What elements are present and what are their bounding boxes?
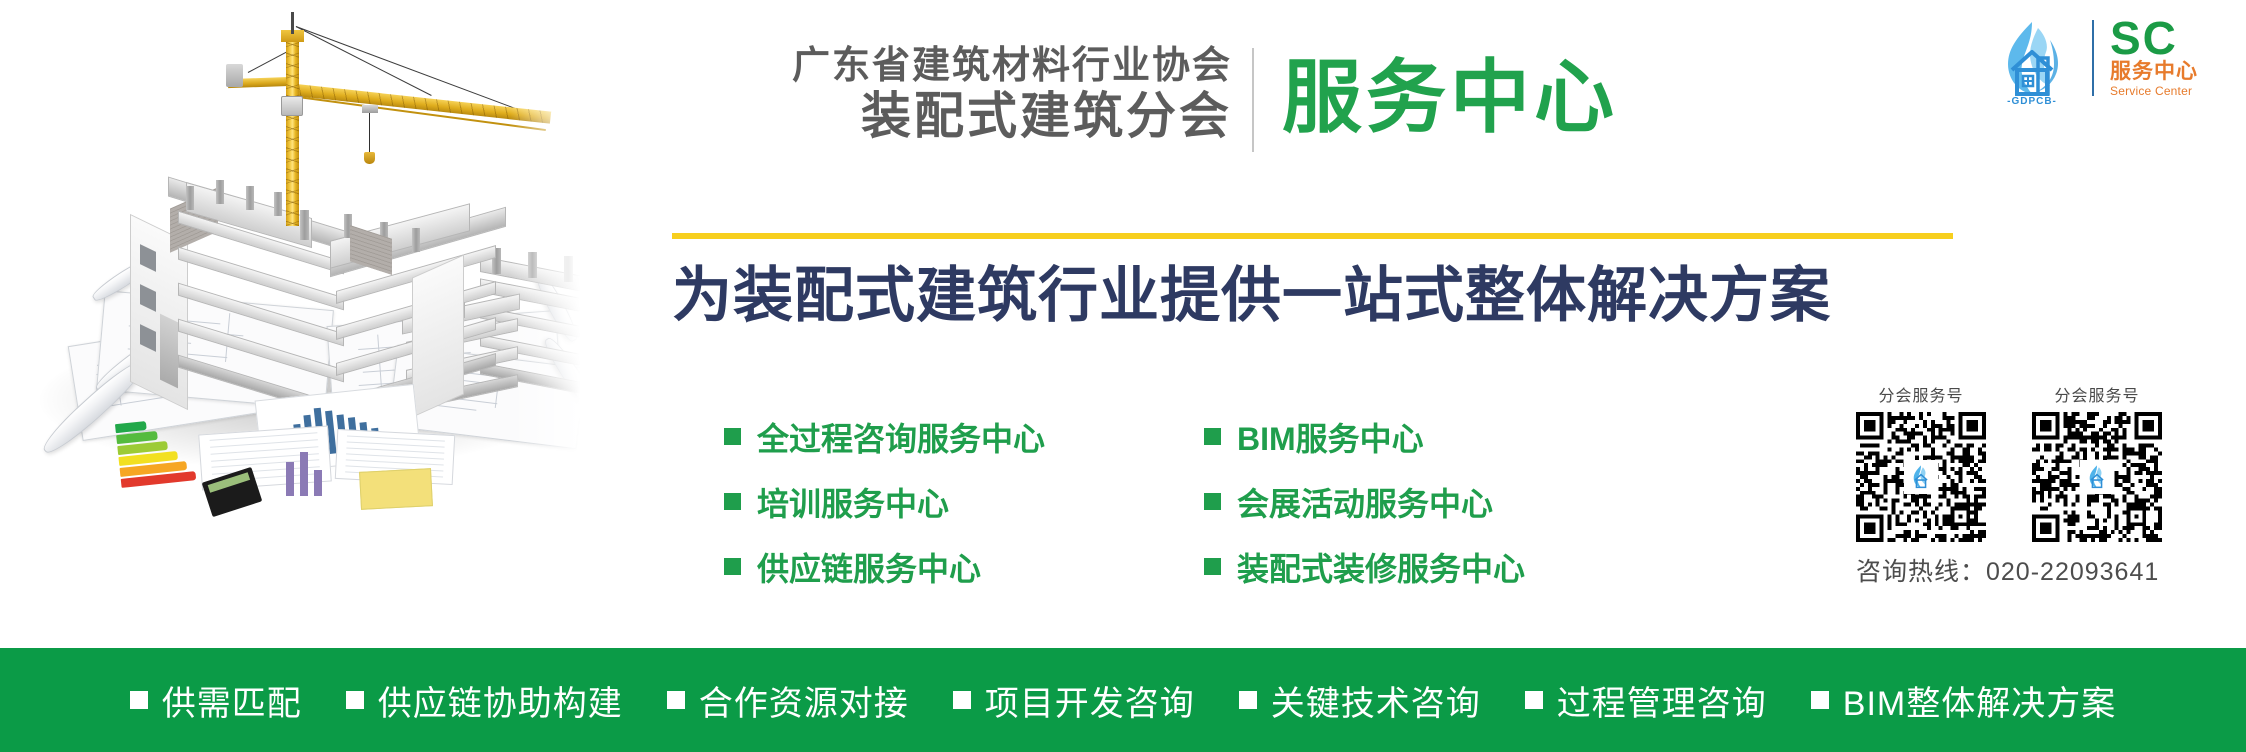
tower-crane-trolley xyxy=(362,105,378,113)
building-shaft xyxy=(160,314,178,389)
bottom-item-label: 供应链协助构建 xyxy=(378,676,623,725)
qr-center-logo xyxy=(1904,460,1938,494)
yellow-divider-rule xyxy=(672,233,1953,239)
tower-crane-cab xyxy=(281,96,303,116)
square-bullet-icon xyxy=(1204,558,1221,575)
bottom-item-bim[interactable]: BIM整体解决方案 xyxy=(1811,676,2116,725)
qr-center-logo xyxy=(2080,460,2114,494)
square-bullet-icon xyxy=(1811,691,1829,709)
logo-vertical-divider xyxy=(2092,20,2094,96)
chart-accent-bar xyxy=(314,470,322,496)
service-center-heading: 服务中心 xyxy=(1282,48,1618,148)
service-item-label: 培训服务中心 xyxy=(757,479,949,525)
square-bullet-icon xyxy=(1525,691,1543,709)
banner-root: 广东省建筑材料行业协会 装配式建筑分会 服务中心 为装配式建筑行业提供一站式整体… xyxy=(0,0,2246,752)
qr-label: 分会服务号 xyxy=(1848,382,1994,406)
building-column xyxy=(274,192,282,216)
qr-code-icon[interactable] xyxy=(1856,412,1986,542)
service-item-label: 装配式装修服务中心 xyxy=(1237,544,1525,590)
gdpcb-house-flame-icon: -GDPCB- xyxy=(1986,14,2078,106)
hero-fade-overlay xyxy=(510,0,600,648)
association-title: 广东省建筑材料行业协会 装配式建筑分会 xyxy=(672,44,1232,144)
service-item-label: 会展活动服务中心 xyxy=(1237,479,1493,525)
square-bullet-icon xyxy=(130,691,148,709)
bottom-item-label: 供需匹配 xyxy=(162,676,302,725)
tower-crane-apex xyxy=(291,12,294,34)
service-item-bim[interactable]: BIM服务中心 xyxy=(1204,412,1525,461)
square-bullet-icon xyxy=(953,691,971,709)
service-item-quanguocheng[interactable]: 全过程咨询服务中心 xyxy=(724,412,1045,461)
hero-construction-illustration xyxy=(0,0,600,648)
bottom-item-label: 项目开发咨询 xyxy=(985,676,1195,725)
bottom-item-gongxu[interactable]: 供需匹配 xyxy=(130,676,302,725)
square-bullet-icon xyxy=(724,428,741,445)
square-bullet-icon xyxy=(1239,691,1257,709)
building-column xyxy=(246,186,254,210)
page-title: 为装配式建筑行业提供一站式整体解决方案 xyxy=(672,258,2012,334)
square-bullet-icon xyxy=(724,493,741,510)
service-column-left: 全过程咨询服务中心 培训服务中心 供应链服务中心 xyxy=(724,412,1045,607)
bottom-item-guanjian[interactable]: 关键技术咨询 xyxy=(1239,676,1481,725)
service-item-huizhan[interactable]: 会展活动服务中心 xyxy=(1204,477,1525,526)
sc-lockup: SC 服务中心 Service Center xyxy=(2110,16,2198,98)
crane-hoist-line xyxy=(369,113,370,155)
service-item-label: BIM服务中心 xyxy=(1237,414,1424,460)
chart-accent-bar xyxy=(286,462,294,496)
building-column xyxy=(412,228,420,252)
building-column xyxy=(186,186,194,210)
bottom-item-label: BIM整体解决方案 xyxy=(1843,676,2116,725)
square-bullet-icon xyxy=(1204,493,1221,510)
bottom-service-bar: 供需匹配 供应链协助构建 合作资源对接 项目开发咨询 关键技术咨询 过程管理咨询… xyxy=(0,648,2246,752)
bottom-item-hezuo[interactable]: 合作资源对接 xyxy=(667,676,909,725)
service-item-zhuangxiu[interactable]: 装配式装修服务中心 xyxy=(1204,542,1525,591)
service-item-gongyinglian[interactable]: 供应链服务中心 xyxy=(724,542,1045,591)
service-item-label: 全过程咨询服务中心 xyxy=(757,414,1045,460)
sc-english-label: Service Center xyxy=(2110,84,2198,98)
qr-label: 分会服务号 xyxy=(2024,382,2170,406)
bottom-item-label: 过程管理咨询 xyxy=(1557,676,1767,725)
title-vertical-divider xyxy=(1252,48,1254,152)
service-item-label: 供应链服务中心 xyxy=(757,544,981,590)
building-column xyxy=(216,180,224,204)
building-facade xyxy=(412,254,464,417)
association-name-line1: 广东省建筑材料行业协会 xyxy=(672,44,1232,88)
association-name-line2: 装配式建筑分会 xyxy=(672,88,1232,144)
building-column xyxy=(300,210,309,240)
crane-cable xyxy=(248,50,289,72)
square-bullet-icon xyxy=(1204,428,1221,445)
square-bullet-icon xyxy=(667,691,685,709)
bottom-item-gongyinglian[interactable]: 供应链协助构建 xyxy=(346,676,623,725)
sc-chinese-label: 服务中心 xyxy=(2110,60,2198,84)
qr-contact-block: 分会服务号 分会服务号 xyxy=(1848,382,2228,588)
sc-monogram: SC xyxy=(2110,16,2198,60)
crane-hook xyxy=(364,152,375,164)
hotline-text: 咨询热线：020-22093641 xyxy=(1848,552,2228,588)
square-bullet-icon xyxy=(346,691,364,709)
bottom-item-xiangmu[interactable]: 项目开发咨询 xyxy=(953,676,1195,725)
tower-crane-mast xyxy=(286,36,299,226)
brand-logo: -GDPCB- SC 服务中心 Service Center xyxy=(1986,14,2226,106)
bottom-item-label: 合作资源对接 xyxy=(699,676,909,725)
bottom-item-guocheng[interactable]: 过程管理咨询 xyxy=(1525,676,1767,725)
tower-crane-counterweight xyxy=(226,64,243,87)
qr-code-icon[interactable] xyxy=(2032,412,2162,542)
sticky-note xyxy=(359,468,433,510)
bottom-item-label: 关键技术咨询 xyxy=(1271,676,1481,725)
square-bullet-icon xyxy=(724,558,741,575)
svg-text:-GDPCB-: -GDPCB- xyxy=(2007,96,2057,106)
service-column-right: BIM服务中心 会展活动服务中心 装配式装修服务中心 xyxy=(1204,412,1525,607)
energy-rating-label xyxy=(115,416,199,486)
qr-row: 分会服务号 分会服务号 xyxy=(1848,382,2228,542)
service-item-peixun[interactable]: 培训服务中心 xyxy=(724,477,1045,526)
chart-accent-bar xyxy=(300,452,308,496)
qr-cell: 分会服务号 xyxy=(2024,382,2170,542)
qr-cell: 分会服务号 xyxy=(1848,382,1994,542)
